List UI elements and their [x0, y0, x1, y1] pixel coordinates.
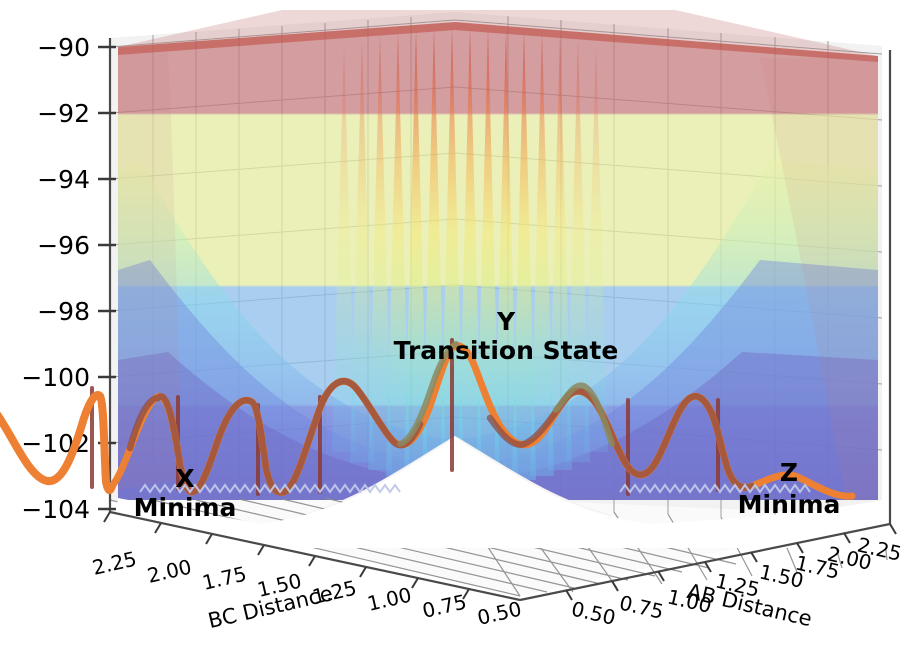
- z-tick-4: −98: [37, 297, 90, 326]
- bc-tick-5: 1.00: [365, 582, 414, 615]
- annot-z-line2: Minima: [738, 490, 841, 519]
- ab-tick-0: 0.50: [569, 596, 618, 629]
- z-tick-1: −92: [37, 99, 90, 128]
- z-tick-5: −100: [21, 363, 90, 392]
- bc-tick-0: 2.25: [90, 546, 139, 579]
- annot-y-line1: Y: [496, 307, 516, 336]
- bc-tick-2: 1.75: [200, 561, 249, 594]
- z-tick-3: −96: [37, 231, 90, 260]
- z-axis-tick-labels: −90 −92 −94 −96 −98 −100 −102 −104: [21, 33, 90, 524]
- annot-z-line1: Z: [780, 458, 798, 487]
- ab-tick-1: 0.75: [617, 590, 666, 623]
- figure-canvas: −90 −92 −94 −96 −98 −100 −102 −104: [0, 0, 904, 652]
- surface-plot-svg: −90 −92 −94 −96 −98 −100 −102 −104: [0, 0, 904, 652]
- bc-tick-6: 0.75: [420, 589, 469, 622]
- z-tick-7: −104: [21, 495, 90, 524]
- z-tick-2: −94: [37, 165, 90, 194]
- z-tick-0: −90: [37, 33, 90, 62]
- annot-y-line2: Transition State: [394, 336, 619, 365]
- annot-x-line1: X: [175, 464, 194, 493]
- annot-x-line2: Minima: [134, 493, 237, 522]
- bc-tick-1: 2.00: [145, 554, 194, 587]
- bc-tick-7: 0.50: [475, 596, 524, 629]
